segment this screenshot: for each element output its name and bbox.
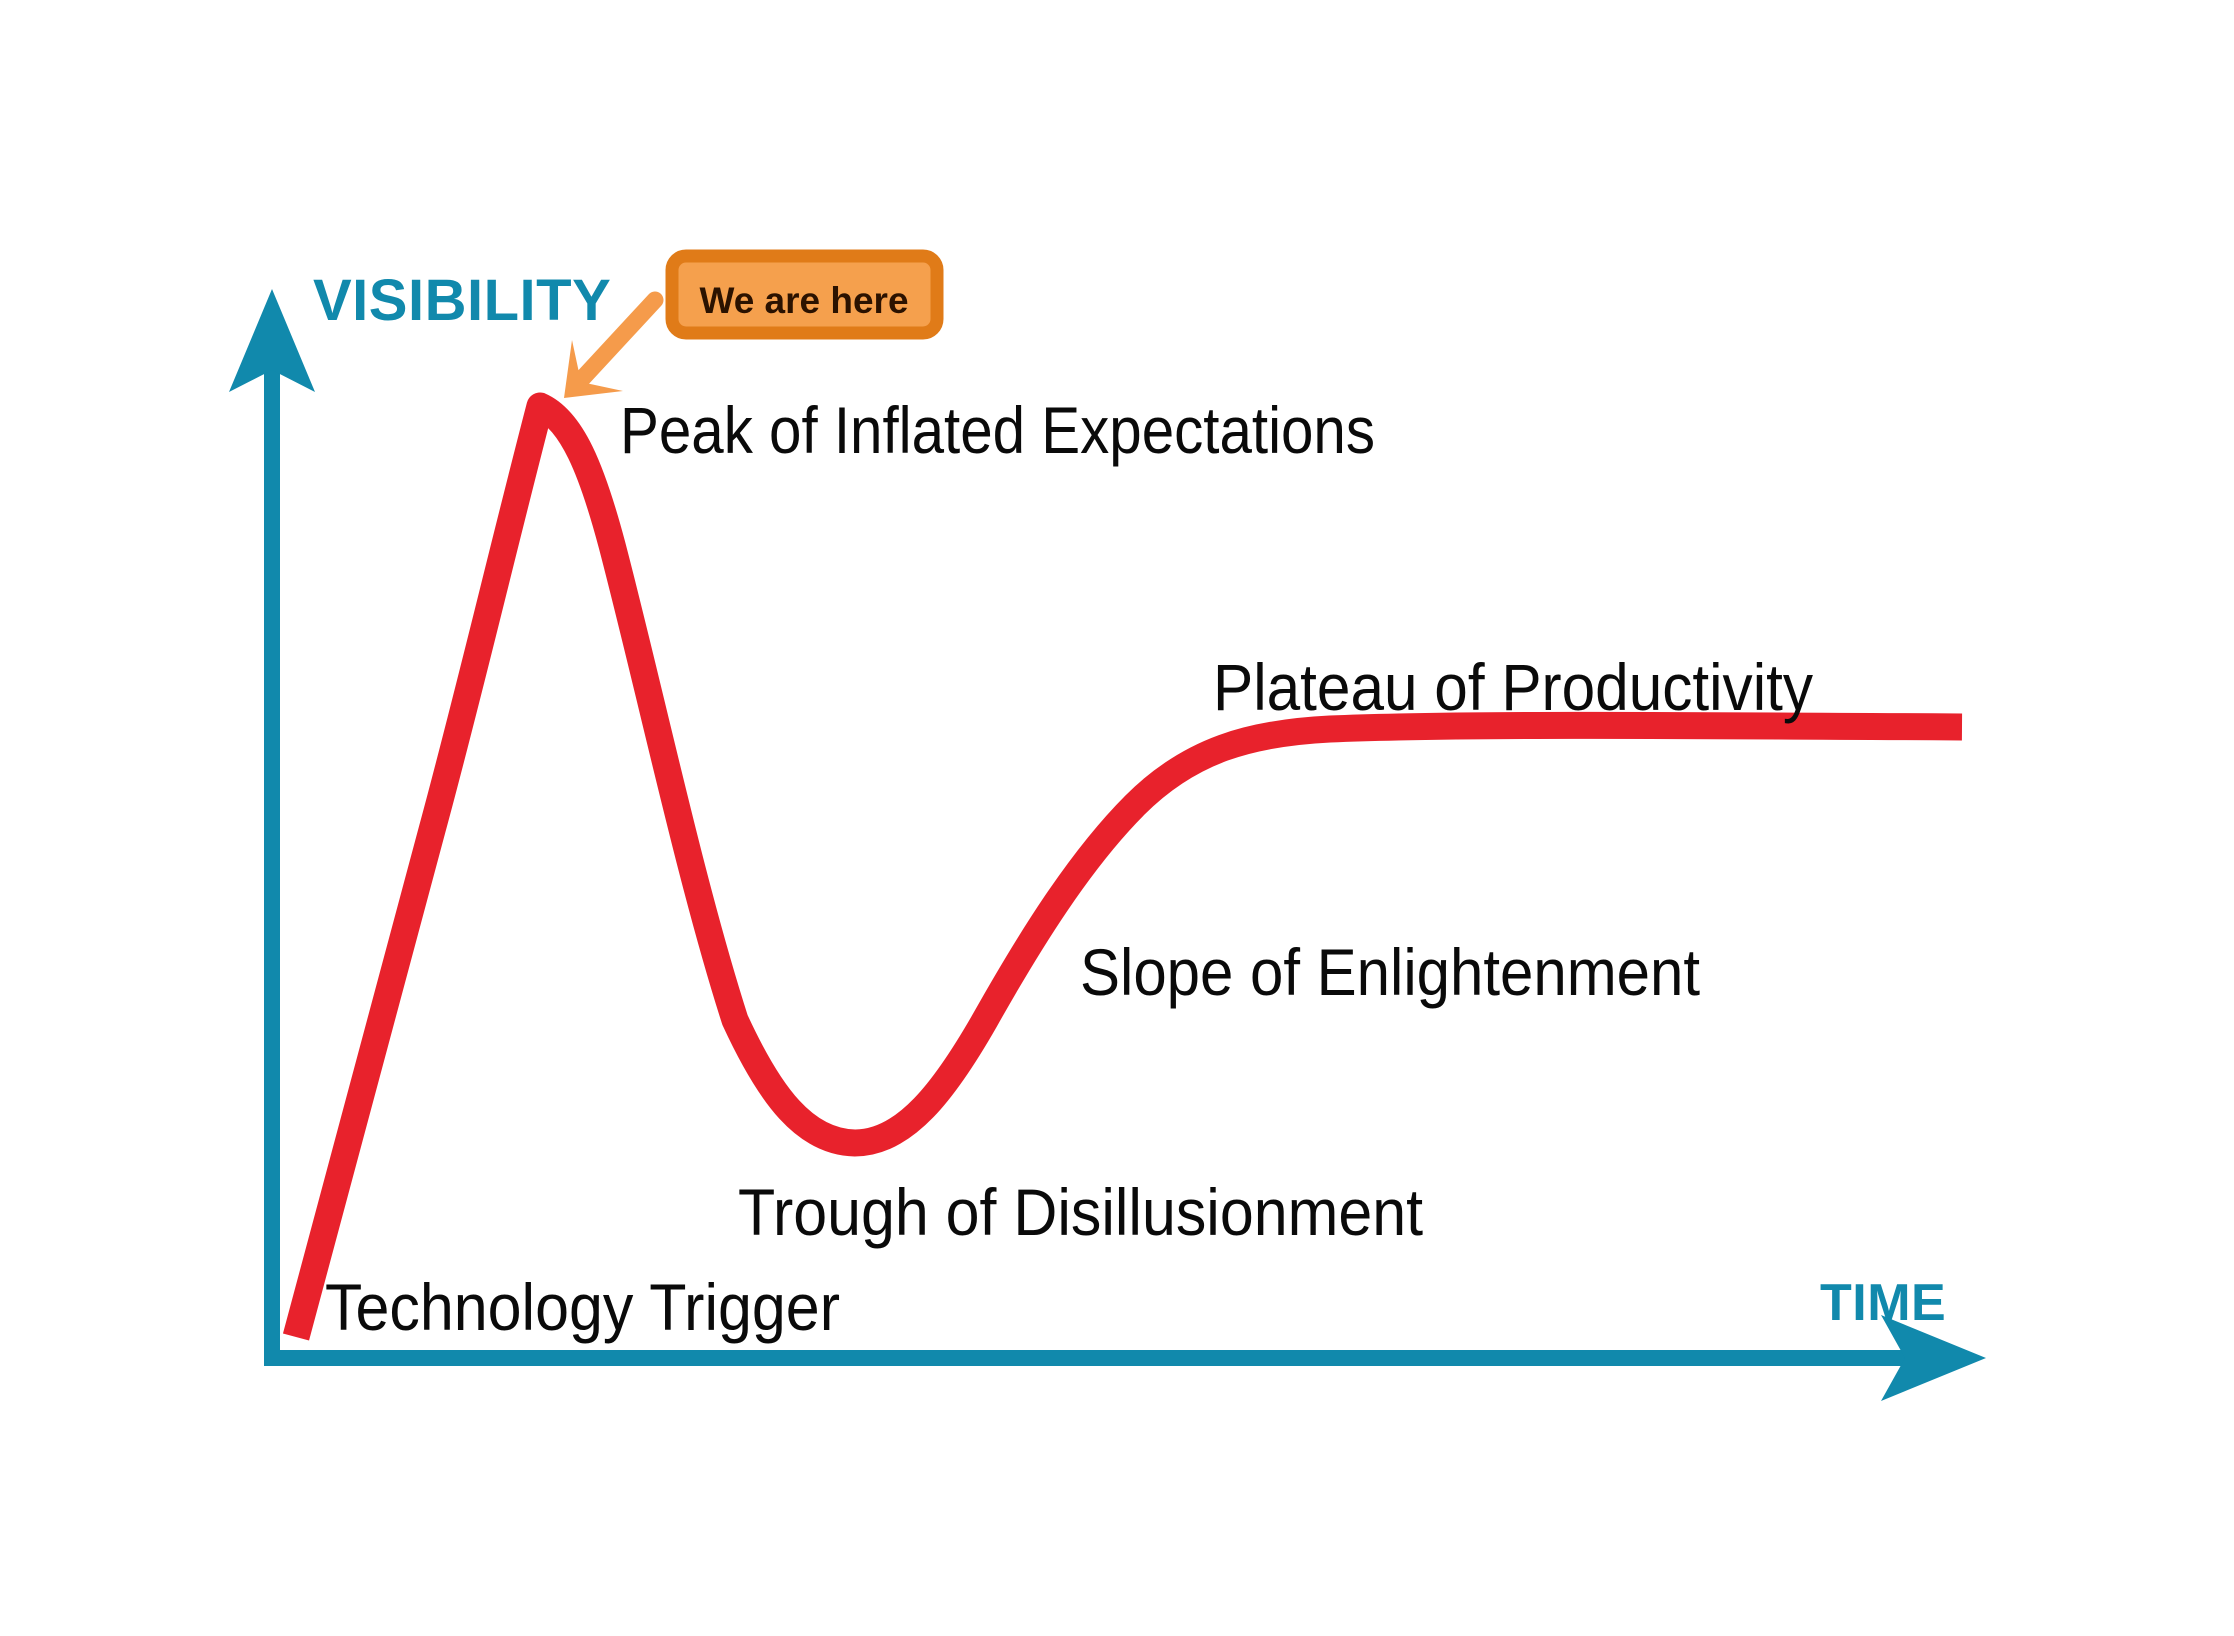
label-technology-trigger: Technology Trigger	[325, 1270, 840, 1344]
label-trough-of-disillusionment: Trough of Disillusionment	[738, 1175, 1423, 1249]
hype-cycle-diagram: VISIBILITY TIME We are here Peak of Infl…	[0, 0, 2234, 1636]
y-axis-label: VISIBILITY	[313, 268, 611, 333]
label-peak-of-inflated-expectations: Peak of Inflated Expectations	[620, 393, 1375, 467]
hype-cycle-canvas: VISIBILITY TIME We are here Peak of Infl…	[0, 0, 2234, 1636]
x-axis-label: TIME	[1820, 1274, 1946, 1332]
label-plateau-of-productivity: Plateau of Productivity	[1213, 650, 1813, 724]
badge-label: We are here	[699, 280, 908, 321]
label-slope-of-enlightenment: Slope of Enlightenment	[1080, 935, 1700, 1009]
